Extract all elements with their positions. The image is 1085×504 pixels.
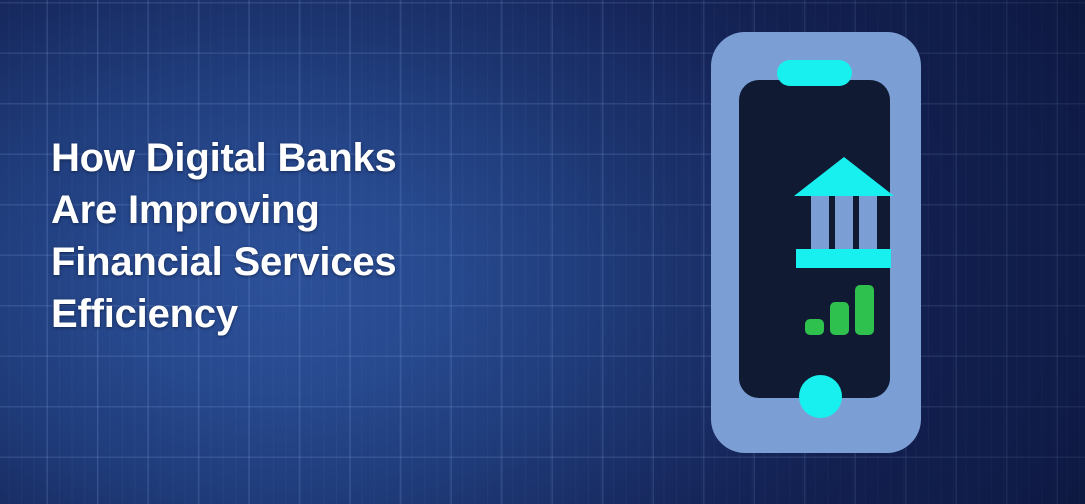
phone-illustration [711, 32, 921, 453]
bank-base-icon [796, 249, 891, 268]
bank-roof-icon [794, 157, 894, 196]
headline-text: How Digital Banks Are Improving Financia… [51, 132, 521, 340]
bank-column [811, 196, 829, 253]
growth-bar [830, 302, 849, 335]
bank-column [835, 196, 853, 253]
phone-speaker-icon [777, 60, 852, 86]
growth-bars-icon [805, 285, 877, 335]
bank-building-icon [792, 157, 895, 268]
phone-home-button [799, 375, 842, 418]
growth-bar [855, 285, 874, 335]
banner-root: How Digital Banks Are Improving Financia… [0, 0, 1085, 504]
phone-screen [739, 80, 890, 398]
growth-bar [805, 319, 824, 335]
bank-column [859, 196, 877, 253]
